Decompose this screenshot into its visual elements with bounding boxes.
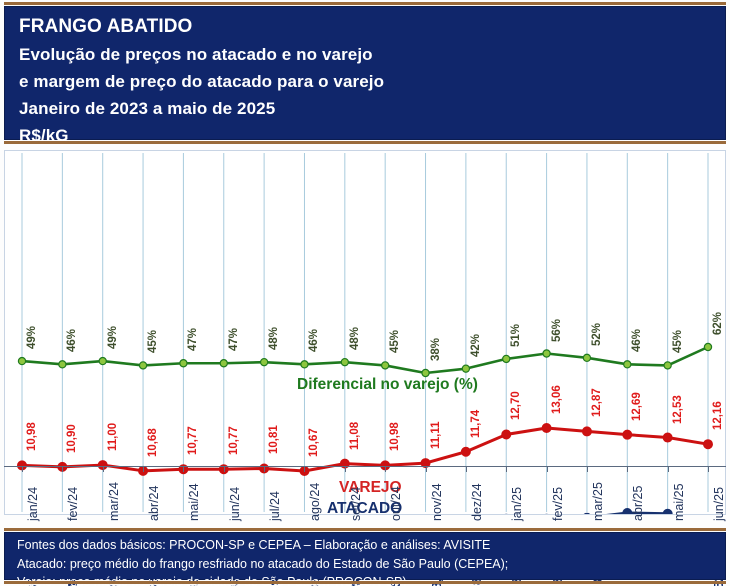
x-axis-label: jan/24 xyxy=(27,487,40,521)
data-label-diferencial: 56% xyxy=(552,318,564,341)
x-axis-label: abr/25 xyxy=(632,486,645,521)
data-label-varejo: 10,90 xyxy=(67,424,79,453)
data-label-diferencial: 48% xyxy=(350,327,362,350)
marker-varejo xyxy=(583,427,592,436)
data-label-diferencial: 45% xyxy=(148,330,160,353)
line-diferencial xyxy=(22,347,708,373)
footer-sources: Fontes dos dados básicos: PROCON-SP e CE… xyxy=(5,533,725,552)
x-axis-label: dez/24 xyxy=(471,483,484,521)
x-axis-label: mai/25 xyxy=(673,483,686,521)
data-label-varejo: 10,77 xyxy=(188,426,200,455)
footer-rule-bottom xyxy=(4,581,726,584)
marker-varejo xyxy=(663,433,672,442)
marker-diferencial xyxy=(382,362,389,369)
data-label-varejo: 11,74 xyxy=(471,410,483,438)
x-axis-label: mar/25 xyxy=(592,482,605,521)
data-label-diferencial: 46% xyxy=(632,329,644,352)
marker-varejo xyxy=(502,430,511,439)
header-rule-top xyxy=(4,2,726,5)
marker-diferencial xyxy=(462,365,469,372)
data-label-varejo: 12,53 xyxy=(673,395,685,424)
marker-diferencial xyxy=(503,355,510,362)
data-label-diferencial: 45% xyxy=(390,330,402,353)
marker-diferencial xyxy=(139,362,146,369)
marker-diferencial xyxy=(180,360,187,367)
header-rule-bottom xyxy=(4,141,726,144)
data-label-diferencial: 42% xyxy=(471,334,483,357)
data-label-varejo: 11,00 xyxy=(108,423,120,451)
header-title: FRANGO ABATIDO xyxy=(5,7,725,36)
x-axis-label: mar/24 xyxy=(108,482,121,521)
x-axis-line xyxy=(4,466,726,467)
line-varejo xyxy=(22,428,708,471)
x-axis-label: out/24 xyxy=(390,486,403,521)
data-label-varejo: 12,69 xyxy=(632,392,644,421)
chart-header: FRANGO ABATIDO Evolução de preços no ata… xyxy=(0,0,730,146)
marker-diferencial xyxy=(583,354,590,361)
x-axis-label: mai/24 xyxy=(188,483,201,521)
x-axis-label: nov/24 xyxy=(431,483,444,521)
chart-page: FRANGO ABATIDO Evolução de preços no ata… xyxy=(0,0,730,586)
header-panel: FRANGO ABATIDO Evolução de preços no ata… xyxy=(4,6,726,140)
x-axis-label: set/24 xyxy=(350,487,363,521)
x-axis-label: jul/24 xyxy=(269,491,282,521)
data-label-diferencial: 52% xyxy=(592,323,604,346)
data-label-varejo: 10,81 xyxy=(269,426,281,455)
header-unit: R$/kG xyxy=(5,117,725,144)
marker-diferencial xyxy=(543,350,550,357)
marker-diferencial xyxy=(261,359,268,366)
marker-varejo xyxy=(461,447,470,456)
data-label-diferencial: 51% xyxy=(511,324,523,347)
data-label-varejo: 11,11 xyxy=(431,422,443,450)
chart-plot-area: 49%46%49%45%47%47%48%46%48%45%38%42%51%5… xyxy=(4,150,726,515)
x-axis-label: abr/24 xyxy=(148,486,161,521)
marker-varejo xyxy=(623,430,632,439)
data-label-diferencial: 46% xyxy=(67,329,79,352)
footer-note-atacado: Atacado: preço médio do frango resfriado… xyxy=(5,552,725,571)
data-label-varejo: 12,16 xyxy=(713,401,725,430)
x-axis-label: jun/25 xyxy=(713,487,726,521)
marker-diferencial xyxy=(220,360,227,367)
data-label-diferencial: 48% xyxy=(269,327,281,350)
marker-varejo xyxy=(542,424,551,433)
x-axis-label: fev/24 xyxy=(67,487,80,521)
data-label-varejo: 12,70 xyxy=(511,392,523,421)
header-period: Janeiro de 2023 a maio de 2025 xyxy=(5,90,725,117)
series-label-diferencial: Diferencial no varejo (%) xyxy=(297,377,478,393)
marker-diferencial xyxy=(18,357,25,364)
marker-diferencial xyxy=(59,361,66,368)
marker-diferencial xyxy=(341,359,348,366)
data-label-varejo: 10,67 xyxy=(309,428,321,457)
x-axis-label: jun/24 xyxy=(229,487,242,521)
data-label-diferencial: 49% xyxy=(27,326,39,349)
header-subtitle-2: e margem de preço do atacado para o vare… xyxy=(5,63,725,90)
x-axis: jan/24fev/24mar/24abr/24mai/24jun/24jul/… xyxy=(4,466,726,528)
data-label-varejo: 10,77 xyxy=(229,426,241,455)
data-label-diferencial: 47% xyxy=(229,328,241,351)
marker-diferencial xyxy=(664,362,671,369)
x-axis-label: jan/25 xyxy=(511,487,524,521)
data-label-diferencial: 38% xyxy=(431,338,443,361)
data-label-varejo: 10,68 xyxy=(148,428,160,457)
data-label-diferencial: 47% xyxy=(188,328,200,351)
data-label-diferencial: 45% xyxy=(673,330,685,353)
x-axis-label: fev/25 xyxy=(552,487,565,521)
data-label-diferencial: 49% xyxy=(108,326,120,349)
header-subtitle-1: Evolução de preços no atacado e no varej… xyxy=(5,36,725,63)
data-label-diferencial: 62% xyxy=(713,312,725,335)
chart-footer: Fontes dos dados básicos: PROCON-SP e CE… xyxy=(0,528,730,586)
marker-diferencial xyxy=(99,357,106,364)
data-label-varejo: 11,08 xyxy=(350,421,362,449)
footer-panel: Fontes dos dados básicos: PROCON-SP e CE… xyxy=(4,532,726,580)
data-label-varejo: 13,06 xyxy=(552,385,564,414)
data-label-diferencial: 46% xyxy=(309,329,321,352)
data-label-varejo: 10,98 xyxy=(27,423,39,452)
x-axis-label: ago/24 xyxy=(309,483,322,521)
footer-rule-top xyxy=(4,528,726,531)
marker-diferencial xyxy=(624,361,631,368)
data-label-varejo: 10,98 xyxy=(390,423,402,452)
data-label-varejo: 12,87 xyxy=(592,389,604,418)
marker-diferencial xyxy=(704,343,711,350)
marker-diferencial xyxy=(301,361,308,368)
marker-varejo xyxy=(704,440,713,449)
